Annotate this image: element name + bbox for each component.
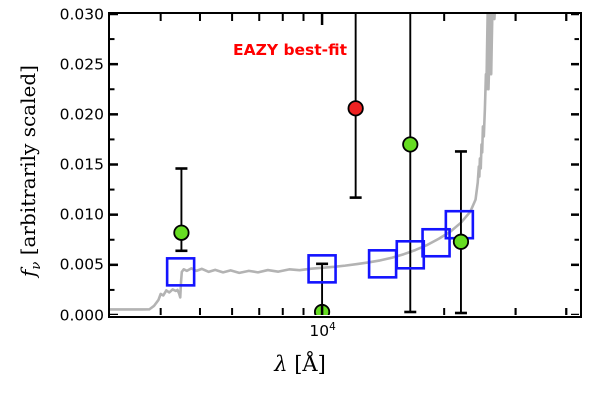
data-point-photometry bbox=[174, 226, 188, 240]
data-point-photometry bbox=[454, 235, 468, 249]
figure-canvas: fν [arbitrarily scaled] 0.0000.0050.0100… bbox=[0, 0, 600, 400]
y-tick-label: 0.005 bbox=[36, 258, 104, 274]
y-tick-label: 0.000 bbox=[36, 308, 104, 324]
x-axis-title: λ [Å] bbox=[0, 352, 600, 376]
y-tick-label: 0.020 bbox=[36, 107, 104, 123]
x-axis-tick-labels: 104 bbox=[0, 322, 600, 348]
data-point-photometry bbox=[403, 137, 417, 151]
y-tick-label: 0.010 bbox=[36, 207, 104, 223]
plot-area: EAZY best-fit bbox=[108, 12, 582, 318]
y-tick-label: 0.025 bbox=[36, 57, 104, 73]
y-tick-label: 0.030 bbox=[36, 7, 104, 23]
plot-graphics bbox=[110, 14, 579, 315]
model-photometry-squares bbox=[167, 211, 473, 285]
x-axis-title-unit: [Å] bbox=[294, 352, 326, 376]
model-photometry-square bbox=[369, 250, 396, 277]
annotation-eazy-bestfit: EAZY best-fit bbox=[233, 42, 347, 59]
x-tick-label: 104 bbox=[309, 322, 335, 340]
axis-ticks bbox=[110, 14, 579, 315]
x-axis-title-symbol: λ bbox=[274, 352, 287, 376]
data-point-highlight bbox=[348, 101, 362, 115]
y-tick-label: 0.015 bbox=[36, 157, 104, 173]
